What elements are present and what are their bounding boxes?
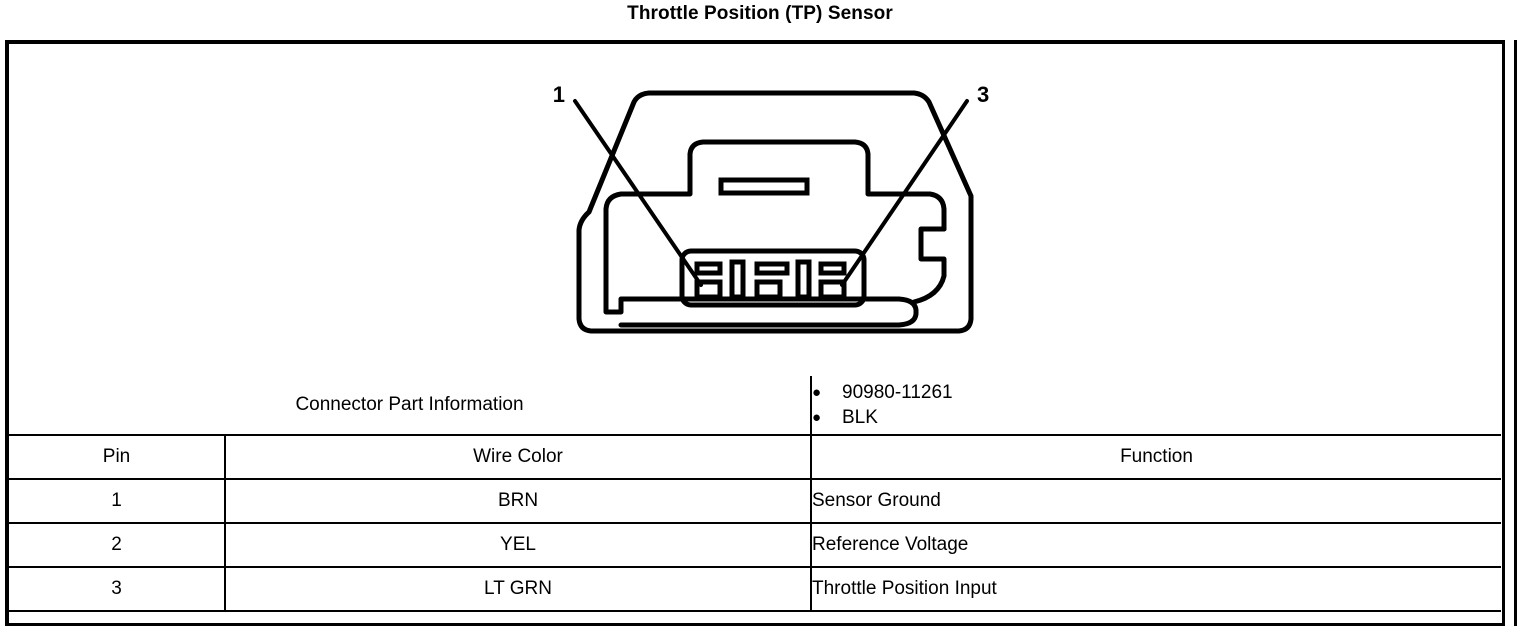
pin-callout-3: 3	[977, 82, 989, 107]
pin-callout-1: 1	[553, 82, 565, 107]
page-title: Throttle Position (TP) Sensor	[0, 0, 1520, 34]
connector-top-slot	[721, 180, 807, 193]
connector-part-information-label: Connector Part Information	[9, 376, 811, 435]
cell-function: Throttle Position Input	[811, 567, 1501, 611]
outer-right-rule	[1514, 40, 1517, 626]
cavity-g	[821, 264, 844, 273]
table-row: 2 YEL Reference Voltage	[9, 523, 1501, 567]
connector-color-value: BLK	[842, 407, 878, 428]
bullet-icon: ●	[812, 380, 821, 405]
part-number-list: ●90980-11261 ●BLK	[812, 380, 1501, 430]
cell-pin: 1	[9, 479, 225, 523]
diagram-frame: 1 3 Connector Part Information ●90980-11…	[5, 40, 1505, 626]
cell-pin: 2	[9, 523, 225, 567]
cell-pin: 3	[9, 567, 225, 611]
cavity-f	[798, 262, 809, 297]
cell-function: Sensor Ground	[811, 479, 1501, 523]
column-header-wire-color: Wire Color	[225, 435, 811, 479]
cavity-e	[757, 282, 780, 297]
cavity-a	[697, 264, 720, 273]
bullet-icon: ●	[812, 405, 821, 430]
table-header-row: Pin Wire Color Function	[9, 435, 1501, 479]
table-row: 3 LT GRN Throttle Position Input	[9, 567, 1501, 611]
cell-function: Reference Voltage	[811, 523, 1501, 567]
cavity-d	[757, 264, 787, 273]
part-list-item: ●90980-11261	[812, 380, 1501, 405]
terminal-cavities	[697, 262, 844, 297]
table-row: 1 BRN Sensor Ground	[9, 479, 1501, 523]
column-header-pin: Pin	[9, 435, 225, 479]
cell-wire-color: BRN	[225, 479, 811, 523]
part-number-value: 90980-11261	[842, 382, 953, 403]
cell-wire-color: YEL	[225, 523, 811, 567]
part-list-item: ●BLK	[812, 405, 1501, 430]
pin-table: Connector Part Information ●90980-11261 …	[9, 376, 1501, 612]
connector-face-view: 1 3	[9, 44, 1501, 376]
connector-part-numbers-cell: ●90980-11261 ●BLK	[811, 376, 1501, 435]
cavity-c	[732, 262, 743, 297]
column-header-function: Function	[811, 435, 1501, 479]
connector-part-information-row: Connector Part Information ●90980-11261 …	[9, 376, 1501, 435]
leader-line-pin-3	[842, 101, 967, 285]
connector-diagram-panel: 1 3	[9, 44, 1501, 376]
cell-wire-color: LT GRN	[225, 567, 811, 611]
